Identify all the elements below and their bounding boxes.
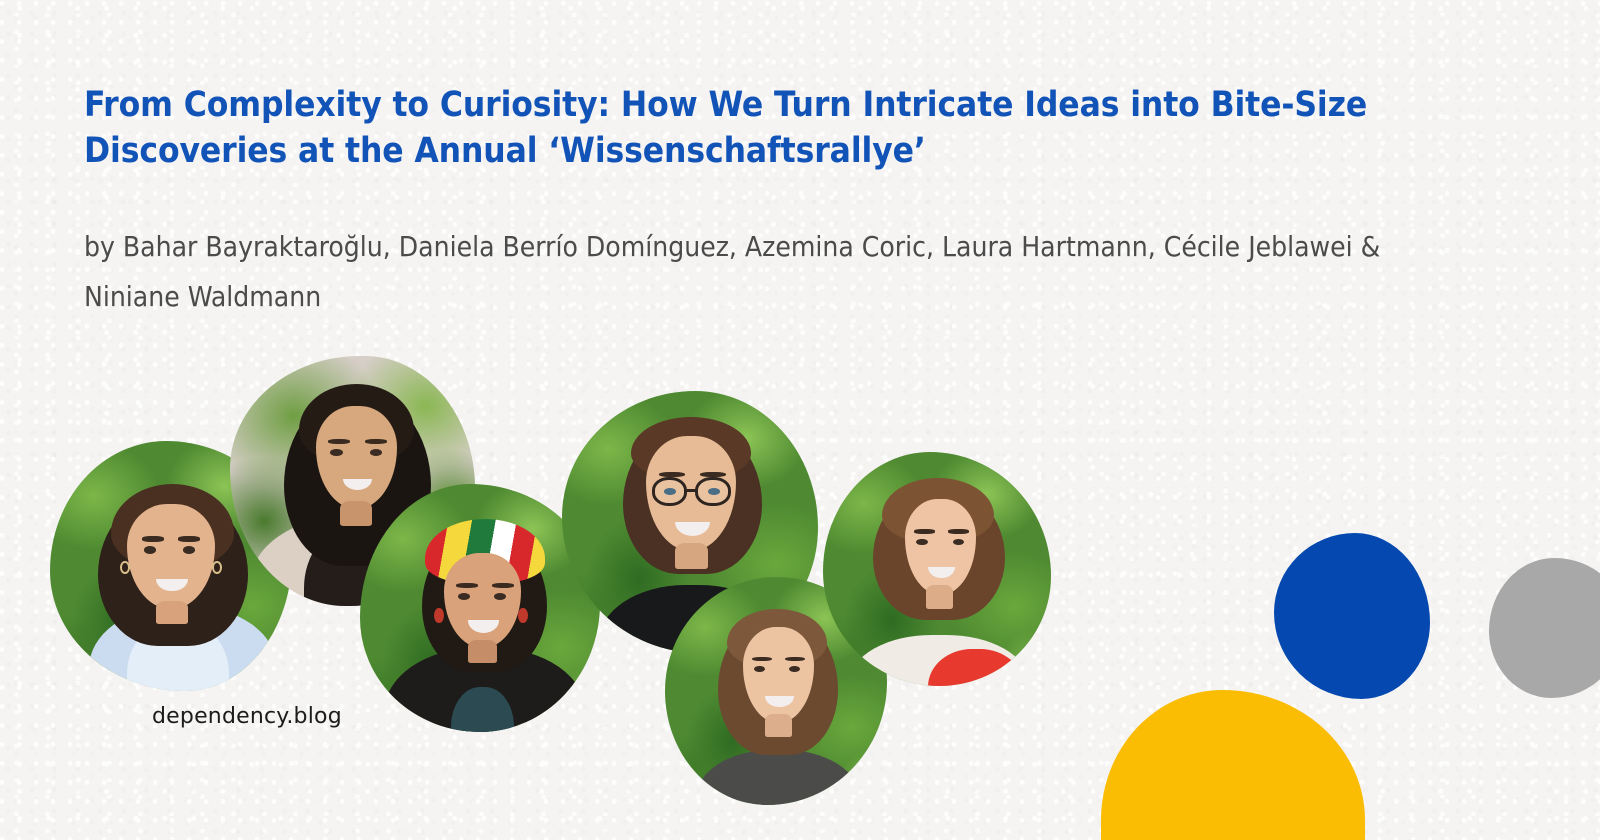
portrait-photo [823,452,1051,686]
site-watermark: dependency.blog [152,704,342,729]
author-byline: by Bahar Bayraktaroğlu, Daniela Berrío D… [84,222,1414,322]
portrait-niniane-waldmann [823,452,1051,686]
eyeglasses-bridge [687,489,696,492]
person-figure [823,452,1051,686]
page-title: From Complexity to Curiosity: How We Tur… [84,82,1504,174]
poster-canvas: From Complexity to Curiosity: How We Tur… [0,0,1600,840]
